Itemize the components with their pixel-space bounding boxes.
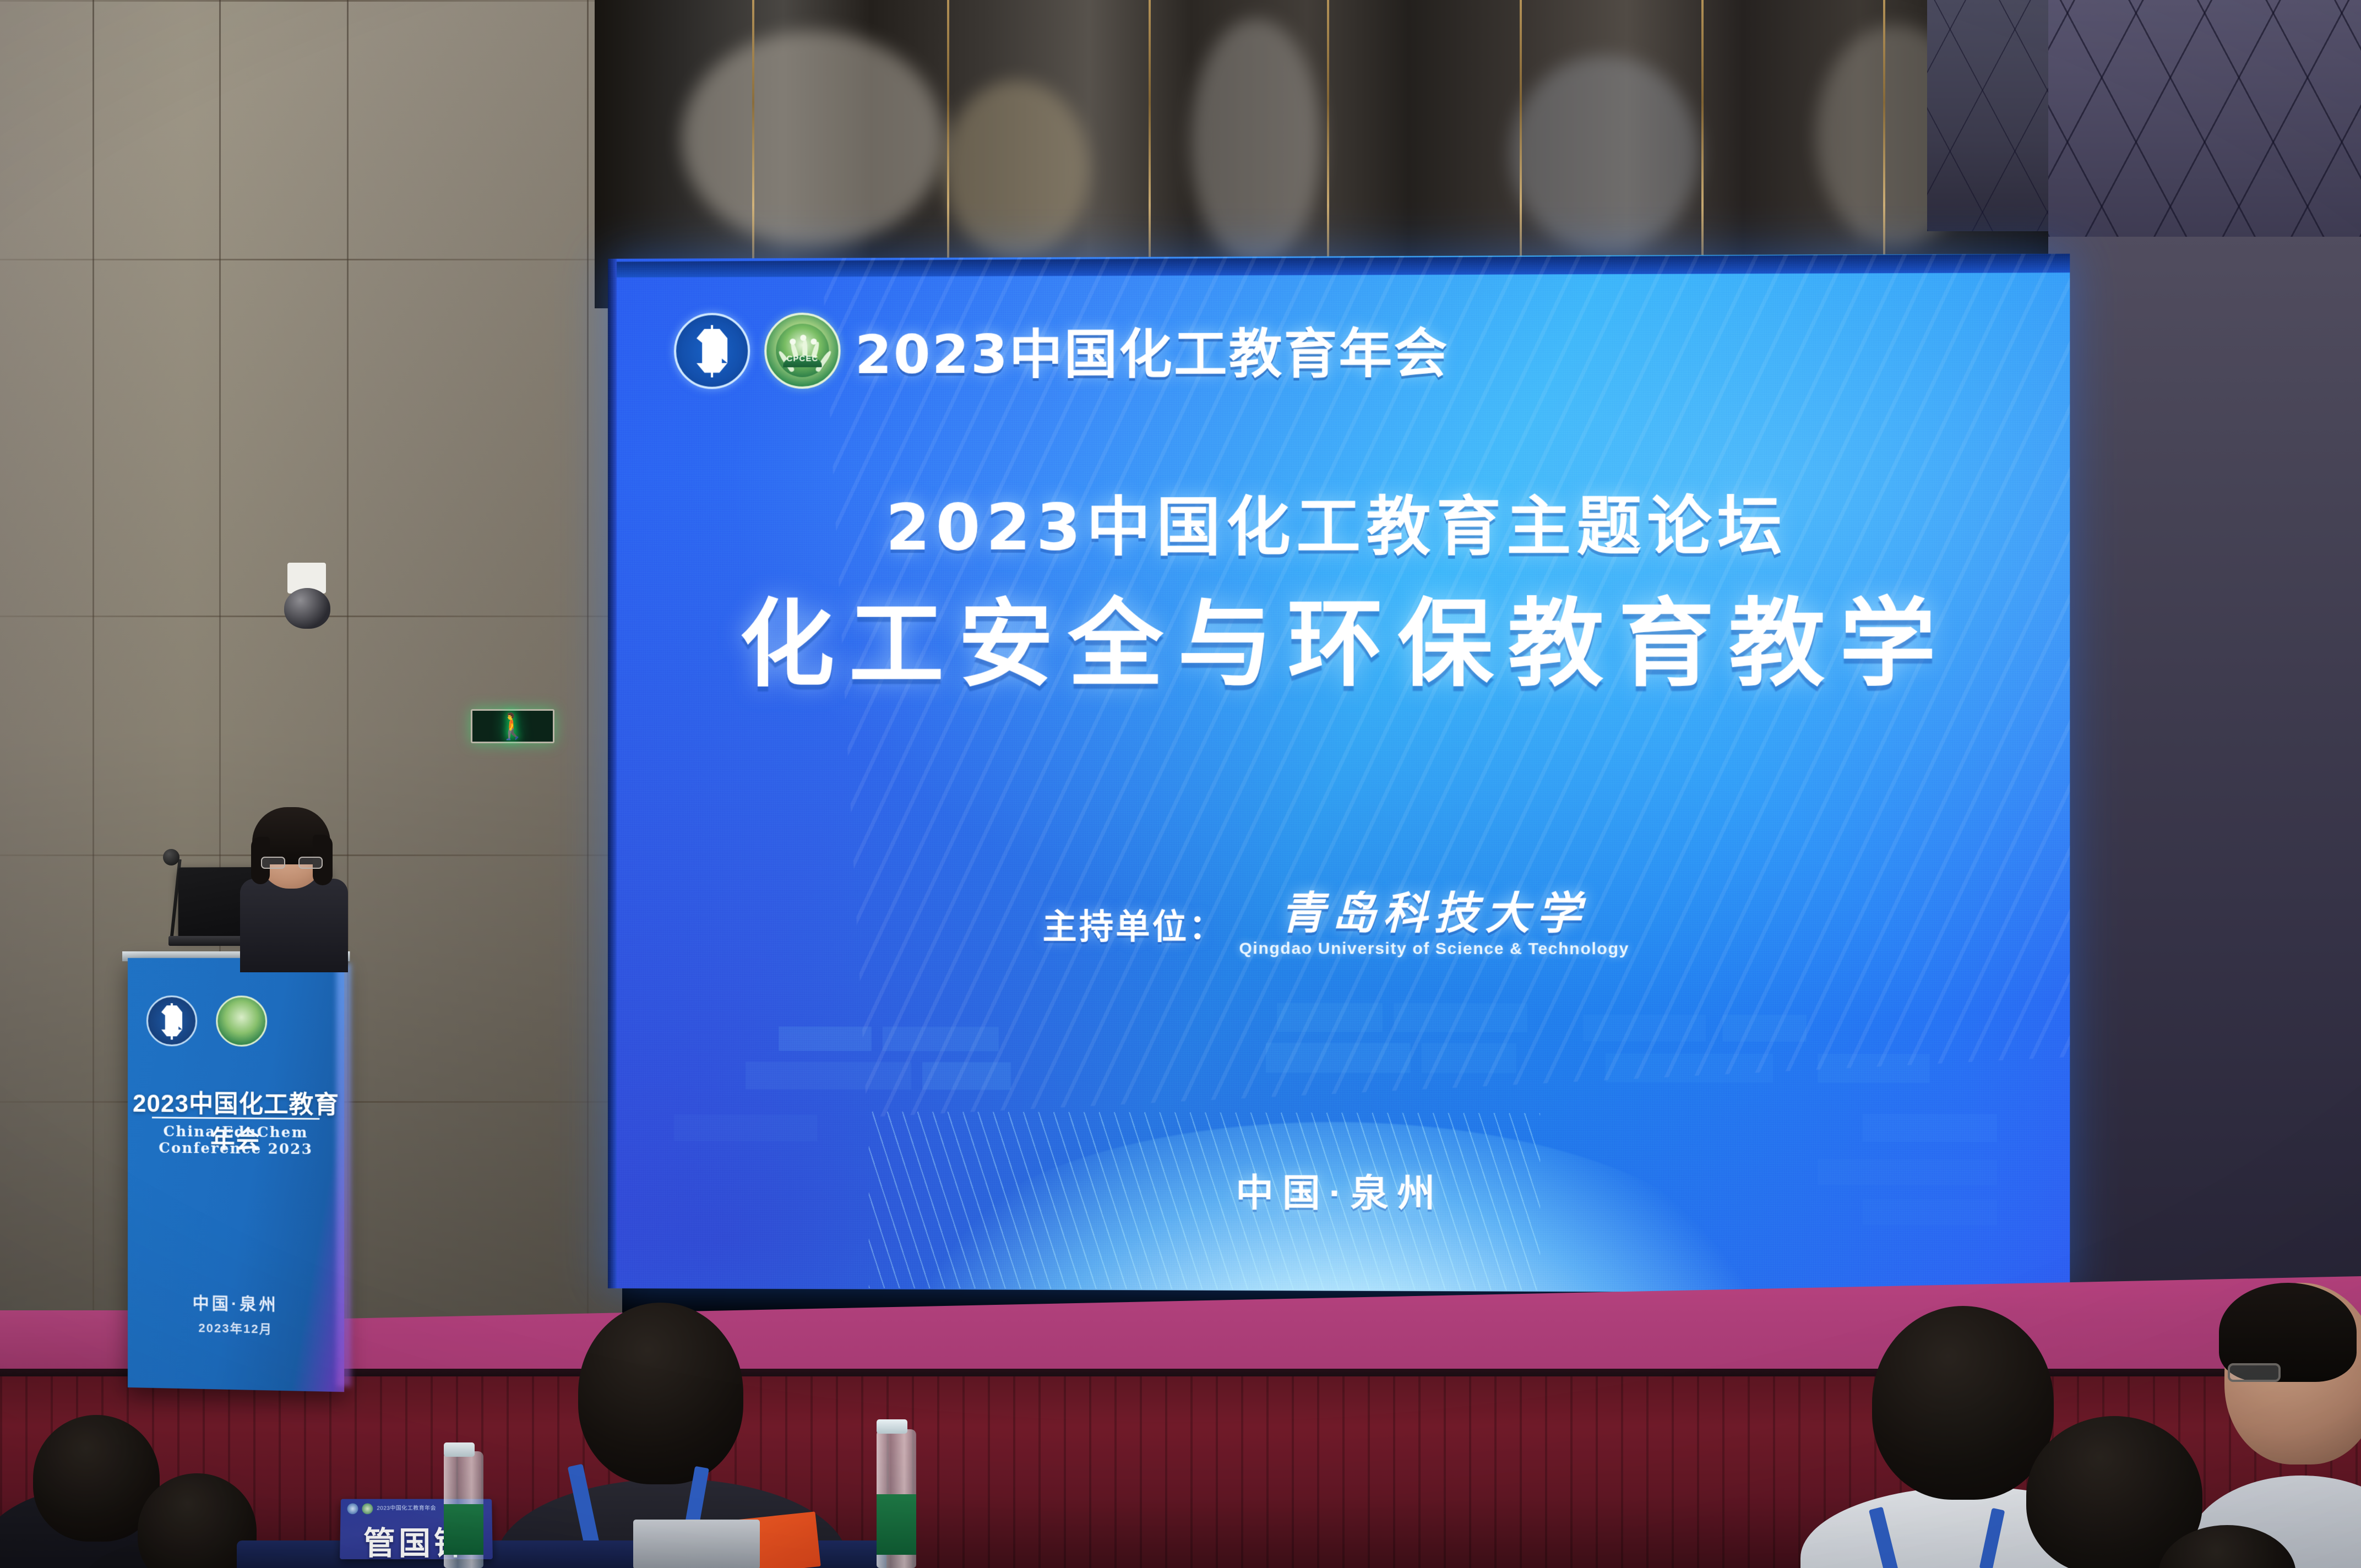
presenter-glasses-icon (261, 857, 323, 869)
cpcec-emblem-icon: CPCEC (764, 312, 840, 389)
host-name-chinese: 青岛科技大学 (1239, 890, 1629, 937)
host-organization: 主持单位： 青岛科技大学 Qingdao University of Scien… (608, 889, 2070, 959)
audience-glasses-icon (2228, 1363, 2281, 1382)
presenter-body (240, 879, 348, 972)
cpcec-emblem-icon (216, 995, 267, 1047)
forum-title: 2023中国化工教育主题论坛 (608, 473, 2070, 569)
podium-logos (146, 995, 267, 1047)
podium-location: 中国·泉州 (128, 1288, 344, 1316)
event-location: 中国·泉州 (608, 1161, 2070, 1219)
caia-emblem-icon (674, 313, 750, 389)
audience-head (1872, 1306, 2054, 1500)
host-label: 主持单位： (1042, 908, 1225, 947)
bottle-cap (444, 1442, 475, 1457)
audience-head (578, 1303, 743, 1484)
cpcec-abbr: CPCEC (776, 353, 829, 363)
podium-subtitle: China EduChem Conference 2023 (128, 1123, 344, 1158)
speaker-podium: 2023中国化工教育年会 China EduChem Conference 20… (128, 958, 344, 1392)
audience-laptop (633, 1520, 760, 1568)
bottle-label (877, 1494, 916, 1555)
forum-subtitle: 化工安全与环保教育教学 (608, 565, 2070, 705)
led-presentation-screen: CPCEC 2023中国化工教育年会 2023中国化工教育主题论坛 化工安全与环… (608, 254, 2070, 1293)
bottle-cap (877, 1419, 907, 1434)
water-bottle (444, 1451, 483, 1568)
podium-date: 2023年12月 (128, 1317, 344, 1338)
microphone-head-icon (163, 849, 179, 865)
cpcec-emblem-icon (362, 1504, 373, 1515)
name-card-header-line1: 2023中国化工教育年会 (377, 1505, 436, 1511)
host-name-english: Qingdao University of Science & Technolo… (1239, 939, 1629, 959)
name-card-header: 2023中国化工教育年会 (347, 1504, 436, 1515)
screen-header: CPCEC 2023中国化工教育年会 (674, 310, 1449, 389)
caia-emblem-icon (146, 995, 197, 1046)
conference-hall-photo: 🚶 (0, 0, 2361, 1568)
bottle-label (444, 1504, 483, 1555)
screen-header-title: 2023中国化工教育年会 (855, 310, 1449, 389)
screen-bevel (608, 259, 617, 1288)
caia-emblem-icon (347, 1504, 358, 1515)
wall-seam (0, 0, 622, 2)
wall-seam (0, 259, 622, 260)
ceiling-security-camera (284, 588, 330, 629)
emergency-exit-sign: 🚶 (471, 709, 554, 743)
water-bottle (877, 1429, 916, 1568)
diamond-pattern-wall-panel (2048, 0, 2361, 237)
running-man-icon: 🚶 (497, 714, 528, 739)
